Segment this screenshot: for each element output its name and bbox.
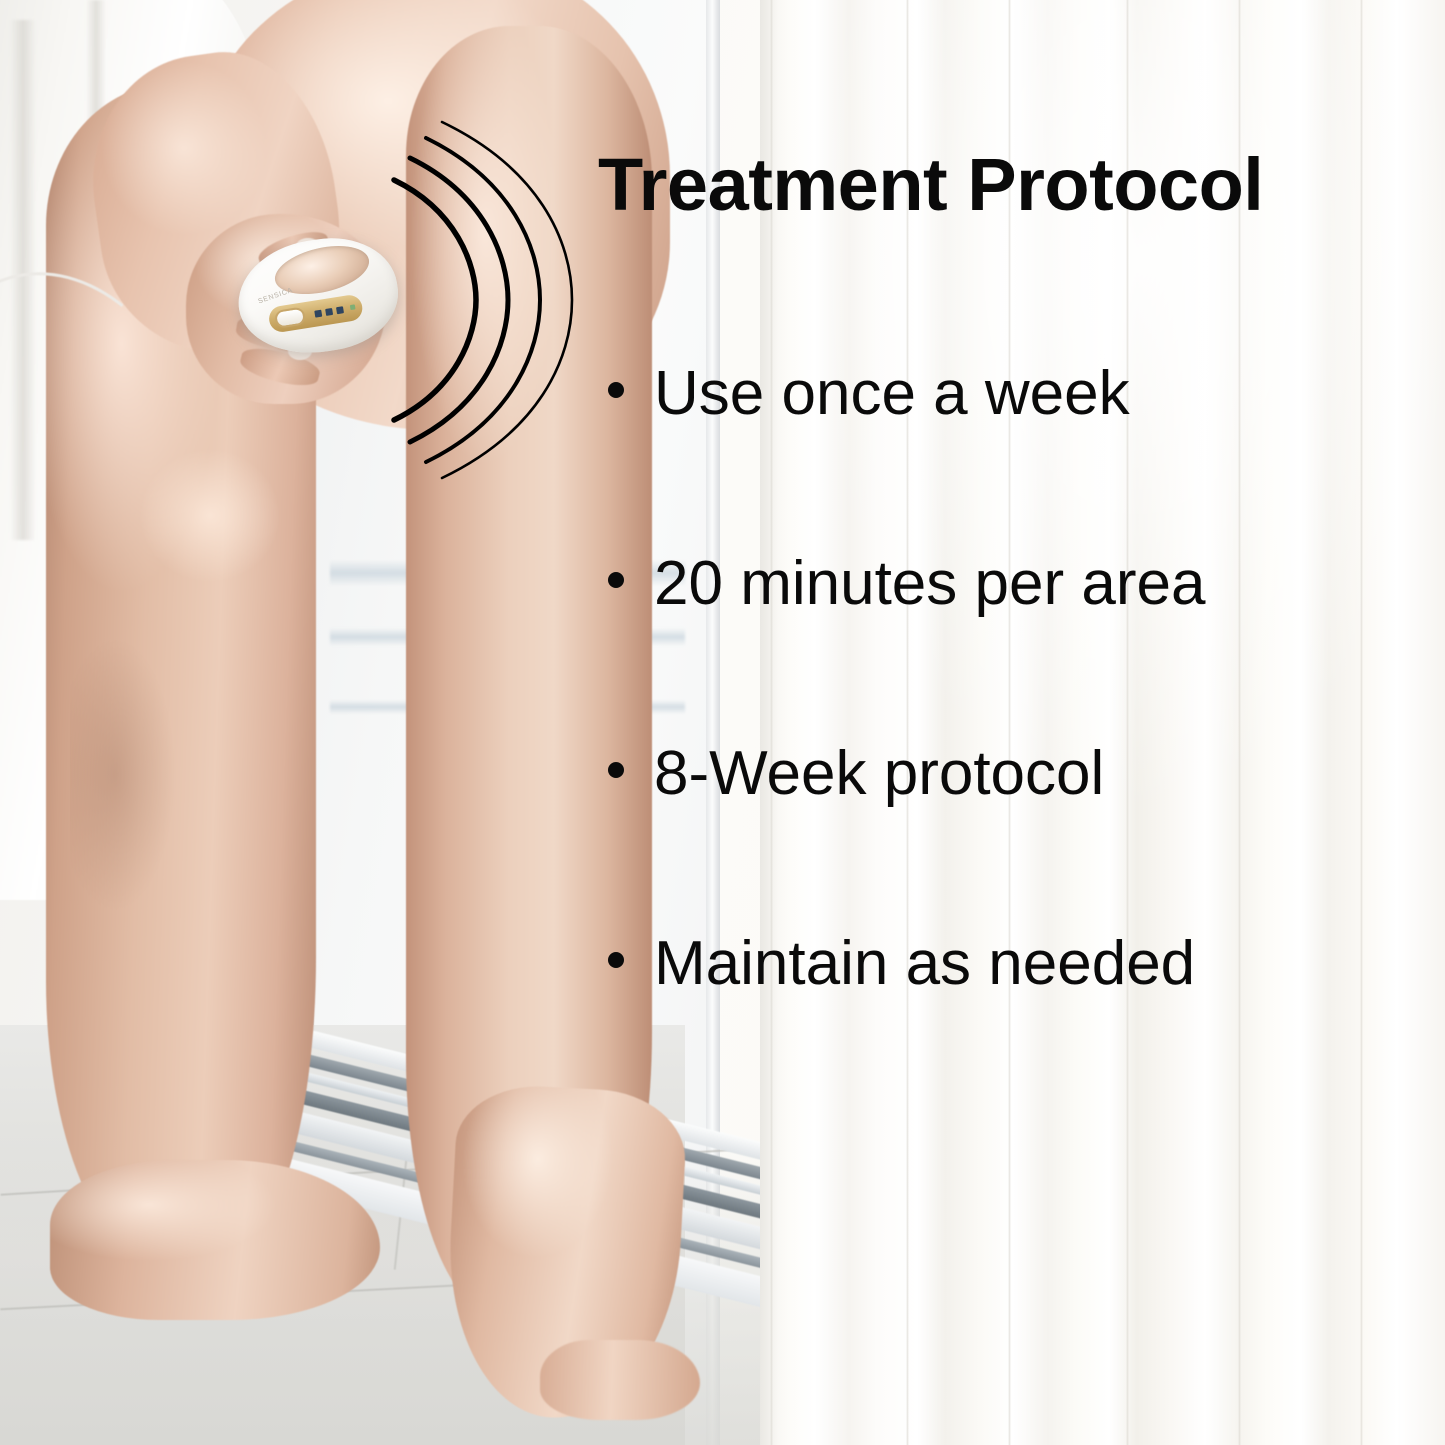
bullet-dot-icon [608, 952, 624, 968]
product-lifestyle-graphic: SENSICA Treatment Protocol [0, 0, 1445, 1445]
front-foot-toes [540, 1340, 700, 1420]
wave-arc-3 [426, 138, 540, 462]
energy-wave-arcs [380, 120, 590, 480]
back-foot [50, 1160, 380, 1320]
bullet-dot-icon [608, 572, 624, 588]
list-item: 8-Week protocol [608, 743, 1104, 805]
device-status-led [350, 304, 356, 310]
list-item-label: Maintain as needed [654, 933, 1195, 995]
device-led-3 [336, 306, 344, 314]
list-item-label: Use once a week [654, 363, 1130, 425]
wave-arc-1 [394, 180, 476, 420]
list-item-label: 8-Week protocol [654, 743, 1104, 805]
list-item: 20 minutes per area [608, 553, 1205, 615]
list-item-label: 20 minutes per area [654, 553, 1205, 615]
list-item: Maintain as needed [608, 933, 1195, 995]
bullet-dot-icon [608, 382, 624, 398]
device-led-2 [325, 308, 333, 316]
list-item: Use once a week [608, 363, 1130, 425]
device-led-1 [314, 310, 322, 318]
text-overlay: Treatment Protocol Use once a week 20 mi… [598, 148, 1418, 222]
page-title: Treatment Protocol [598, 148, 1418, 222]
bullet-dot-icon [608, 762, 624, 778]
